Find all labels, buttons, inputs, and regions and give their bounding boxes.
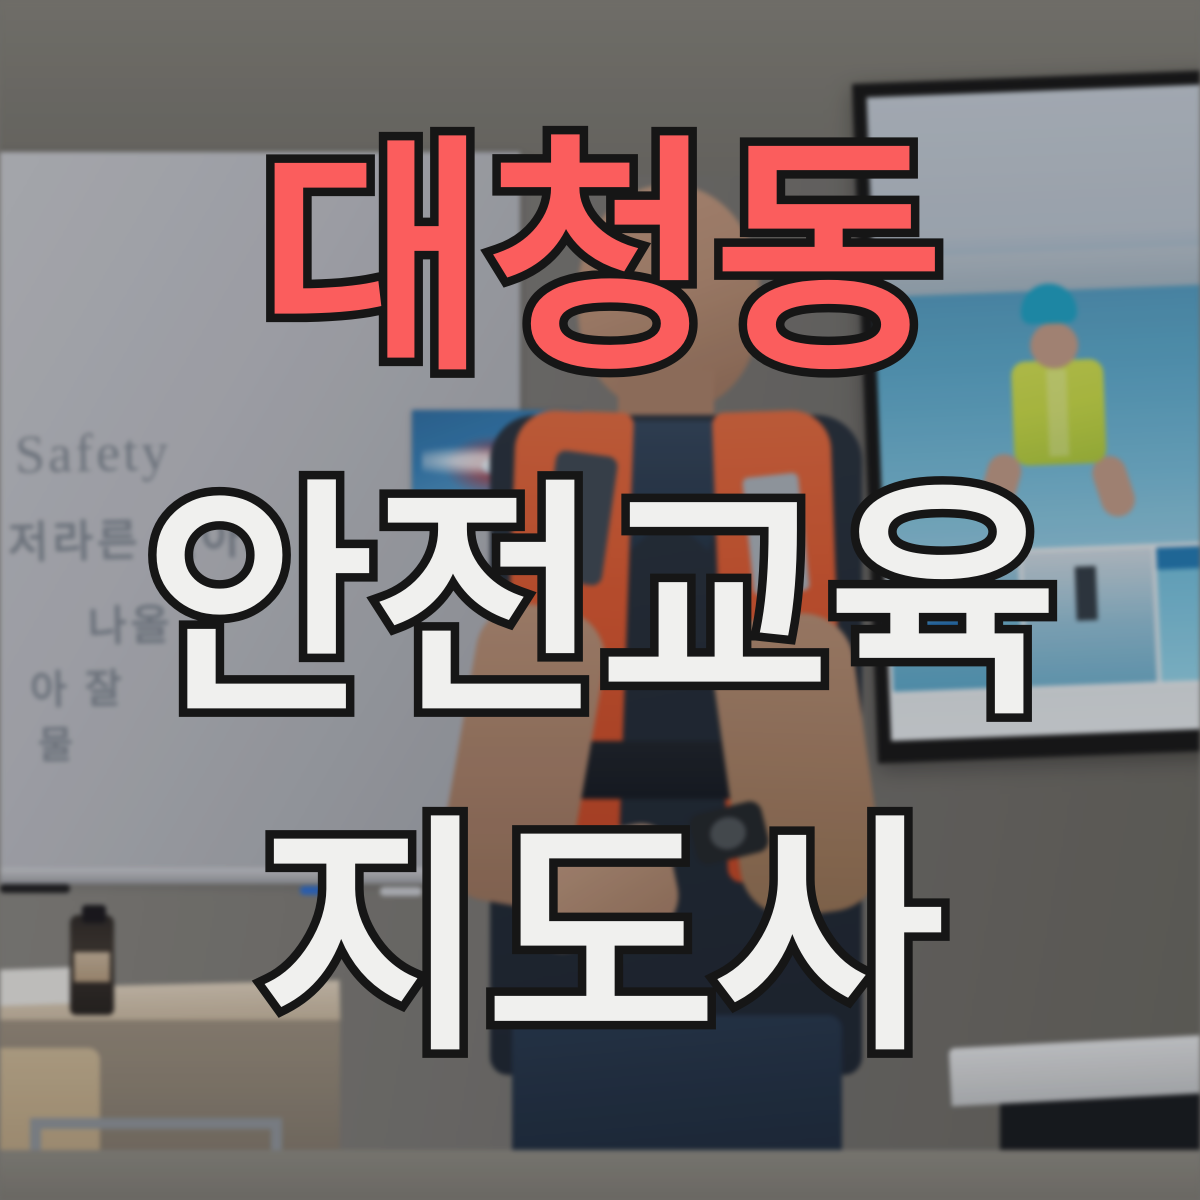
title-overlay: 대청동 안전교육 지도사 xyxy=(0,0,1200,1200)
title-line-3: 지도사 xyxy=(258,815,942,1065)
title-line-1: 대청동 xyxy=(258,135,942,385)
title-line-2: 안전교육 xyxy=(144,479,1056,729)
poster-canvas: Safety 저라른 실아드 나올 아 잘 물 xyxy=(0,0,1200,1200)
